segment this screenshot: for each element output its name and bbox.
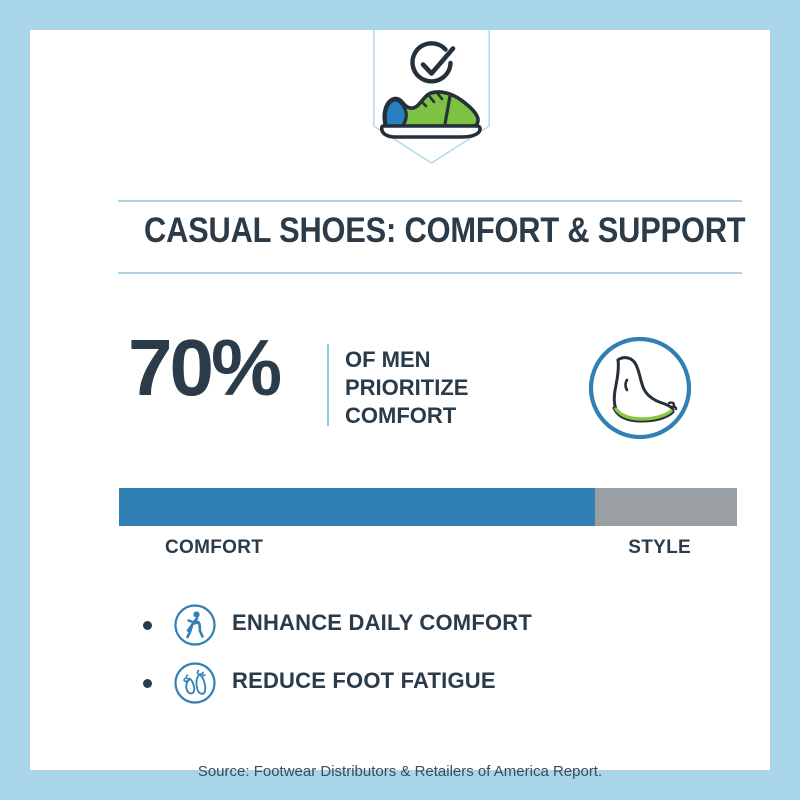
stat-label: OF MEN PRIORITIZE COMFORT	[345, 346, 468, 430]
stat-label-line-1: OF MEN	[345, 346, 468, 374]
header-badge	[373, 30, 490, 164]
bar-fill-comfort	[119, 488, 595, 526]
infographic-card: CASUAL SHOES: COMFORT & SUPPORT 70% OF M…	[30, 30, 770, 770]
stat-divider	[327, 344, 329, 426]
bullet-dot-icon	[143, 621, 152, 630]
stat-percentage: 70%	[128, 328, 279, 408]
bar-legend-comfort: COMFORT	[165, 537, 263, 559]
check-circle-icon	[413, 43, 453, 81]
title-rule-bottom	[118, 272, 742, 274]
foot-arch-support-icon	[585, 333, 695, 443]
list-item: ENHANCE DAILY COMFORT	[140, 600, 740, 658]
stat-label-line-3: COMFORT	[345, 402, 468, 430]
benefit-list: ENHANCE DAILY COMFORT REDUCE FOOT FATIGU…	[140, 600, 740, 716]
stat-row: 70% OF MEN PRIORITIZE COMFORT	[118, 322, 742, 454]
bar-legend-style: STYLE	[628, 537, 691, 559]
bar-legend: COMFORT STYLE	[119, 537, 737, 561]
sneaker-icon	[382, 92, 480, 137]
stat-label-line-2: PRIORITIZE	[345, 374, 468, 402]
title-rule-top	[118, 200, 742, 202]
comfort-style-bar	[119, 488, 737, 526]
list-item: REDUCE FOOT FATIGUE	[140, 658, 740, 716]
page-title: CASUAL SHOES: COMFORT & SUPPORT	[144, 211, 672, 251]
bullet-dot-icon	[143, 679, 152, 688]
walking-person-icon	[173, 603, 217, 647]
source-note: Source: Footwear Distributors & Retailer…	[30, 763, 770, 780]
badge-icons	[373, 36, 490, 146]
list-item-label: REDUCE FOOT FATIGUE	[232, 668, 496, 694]
footprints-icon	[173, 661, 217, 705]
infographic-frame: CASUAL SHOES: COMFORT & SUPPORT 70% OF M…	[0, 0, 800, 800]
list-item-label: ENHANCE DAILY COMFORT	[232, 610, 532, 636]
